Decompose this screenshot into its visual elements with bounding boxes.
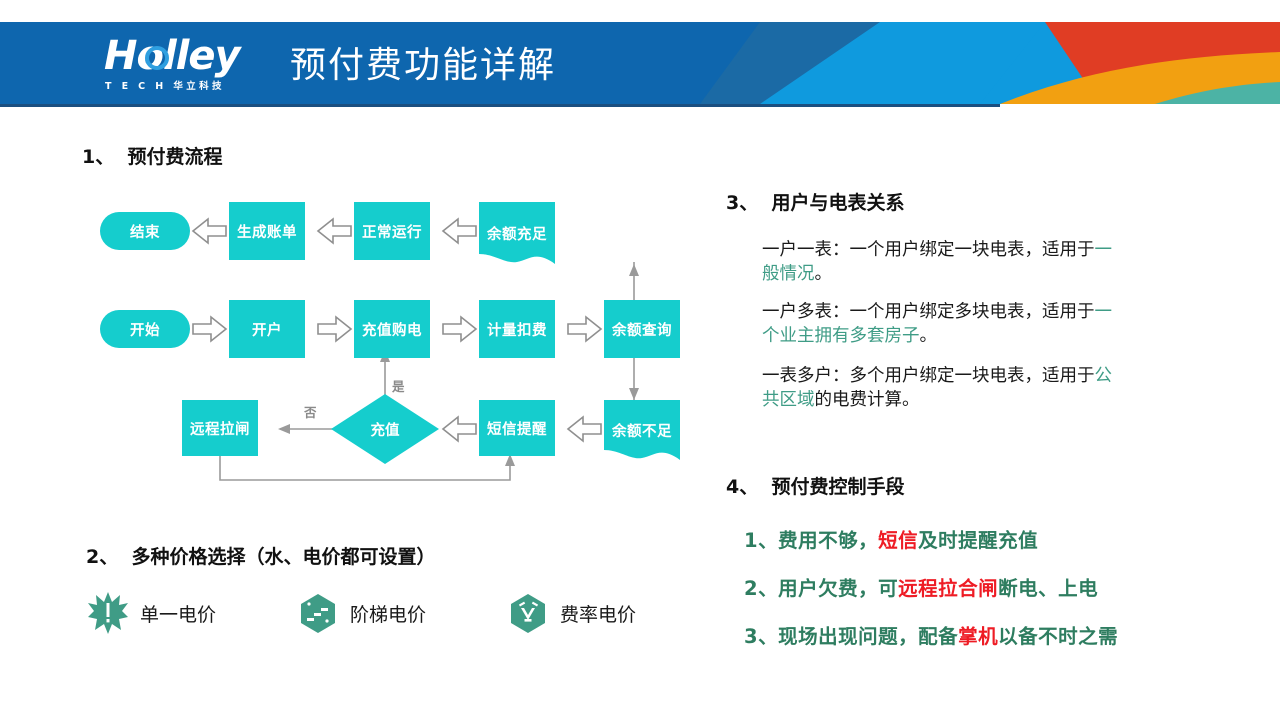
control-measure-item: 1、费用不够，短信及时提醒充值 [744,524,1038,553]
flow-node-open-account-label: 开户 [252,319,282,340]
control-measure-item: 2、用户欠费，可远程拉合闸断电、上电 [744,572,1098,601]
price-option-rate-label: 费率电价 [560,600,636,627]
flow-node-balance-low[interactable]: 余额不足 [604,400,680,460]
logo-wordmark: Holley [104,36,240,76]
price-option-tiered[interactable]: 阶梯电价 [298,592,426,634]
page-title: 预付费功能详解 [290,36,556,88]
meter-relation-text: 一户一表：一个用户绑定一块电表，适用于 [762,240,1095,260]
flow-node-recharge-decision-label: 充值 [331,394,439,464]
flow-node-bill-label: 生成账单 [237,221,297,242]
flow-node-bill[interactable]: 生成账单 [229,202,305,260]
section-2-heading: 2、 多种价格选择（水、电价都可设置） [86,542,435,569]
hexagon-steps-icon [298,592,338,634]
logo-ring-icon [145,46,169,70]
flow-node-balance-low-label: 余额不足 [612,420,672,441]
meter-relation-item: 一户一表：一个用户绑定一块电表，适用于一般情况。 [762,238,1112,286]
flow-node-normal-run[interactable]: 正常运行 [354,202,430,260]
flow-node-remote-trip[interactable]: 远程拉闸 [182,400,258,456]
flow-node-balance-query-label: 余额查询 [612,319,672,340]
flow-node-balance-ok-label: 余额充足 [487,223,547,244]
flow-node-metering[interactable]: 计量扣费 [479,300,555,358]
flow-node-recharge-buy[interactable]: 充值购电 [354,300,430,358]
flow-node-recharge-decision[interactable]: 充值 [331,394,439,464]
flow-node-end[interactable]: 结束 [100,212,190,250]
price-option-tiered-label: 阶梯电价 [350,600,426,627]
header-underline [0,104,1000,107]
section-2-number: 2、 [86,546,118,568]
flow-node-start-label: 开始 [130,319,160,340]
flow-node-end-label: 结束 [130,221,160,242]
prepayment-flowchart: 结束 生成账单 正常运行 余额充足 开始 开户 充值购电 计量扣费 余额查询 远… [80,180,700,490]
control-measure-highlight: 掌机 [958,625,998,648]
section-4-number: 4、 [726,476,758,498]
flow-node-remote-trip-label: 远程拉闸 [190,418,250,439]
meter-relation-text: 一表多户：多个用户绑定一块电表，适用于 [762,366,1095,386]
price-options-row: 单一电价 阶梯电价 费率电价 [88,592,688,648]
price-option-single[interactable]: 单一电价 [88,592,216,634]
section-1-title: 预付费流程 [127,146,222,168]
flow-node-metering-label: 计量扣费 [487,319,547,340]
section-1-number: 1、 [82,146,114,168]
hexagon-rate-icon [508,592,548,634]
control-measure-item: 3、现场出现问题，配备掌机以备不时之需 [744,620,1118,649]
logo-subtitle: T E C H 华立科技 [105,78,225,92]
flow-node-recharge-buy-label: 充值购电 [362,319,422,340]
price-option-rate[interactable]: 费率电价 [508,592,636,634]
flow-node-balance-ok[interactable]: 余额充足 [479,202,555,264]
section-3-number: 3、 [726,192,758,214]
page-header: Holley T E C H 华立科技 预付费功能详解 [0,22,1280,104]
meter-relation-item: 一表多户：多个用户绑定一块电表，适用于公共区域的电费计算。 [762,364,1112,412]
flow-node-start[interactable]: 开始 [100,310,190,348]
section-1-heading: 1、 预付费流程 [82,142,222,169]
meter-relation-text: 一户多表：一个用户绑定多块电表，适用于 [762,302,1095,322]
control-measure-highlight: 远程拉合闸 [898,577,998,600]
meter-relation-suffix: 。 [815,264,833,284]
starburst-icon [88,592,128,634]
flow-node-normal-run-label: 正常运行 [362,221,422,242]
control-measure-suffix: 断电、上电 [998,577,1098,600]
flow-node-sms-alert[interactable]: 短信提醒 [479,400,555,456]
section-3-title: 用户与电表关系 [771,192,904,214]
flow-node-sms-alert-label: 短信提醒 [487,418,547,439]
meter-relation-item: 一户多表：一个用户绑定多块电表，适用于一个业主拥有多套房子。 [762,300,1112,348]
meter-relation-suffix: 。 [920,326,938,346]
flow-node-balance-query[interactable]: 余额查询 [604,300,680,358]
control-measure-text: 3、现场出现问题，配备 [744,625,958,648]
flow-label-yes: 是 [392,376,405,395]
flow-label-no: 否 [304,402,317,421]
control-measure-suffix: 以备不时之需 [998,625,1118,648]
section-2-title: 多种价格选择（水、电价都可设置） [131,546,435,568]
section-3-heading: 3、 用户与电表关系 [726,188,904,215]
control-measure-suffix: 及时提醒充值 [918,529,1038,552]
control-measure-text: 2、用户欠费，可 [744,577,898,600]
meter-relation-suffix: 的电费计算。 [815,390,920,410]
flow-node-open-account[interactable]: 开户 [229,300,305,358]
section-4-heading: 4、 预付费控制手段 [726,472,904,499]
control-measure-highlight: 短信 [878,529,918,552]
price-option-single-label: 单一电价 [140,600,216,627]
section-4-title: 预付费控制手段 [771,476,904,498]
holley-logo: Holley T E C H 华立科技 [104,38,264,96]
control-measure-text: 1、费用不够， [744,529,878,552]
